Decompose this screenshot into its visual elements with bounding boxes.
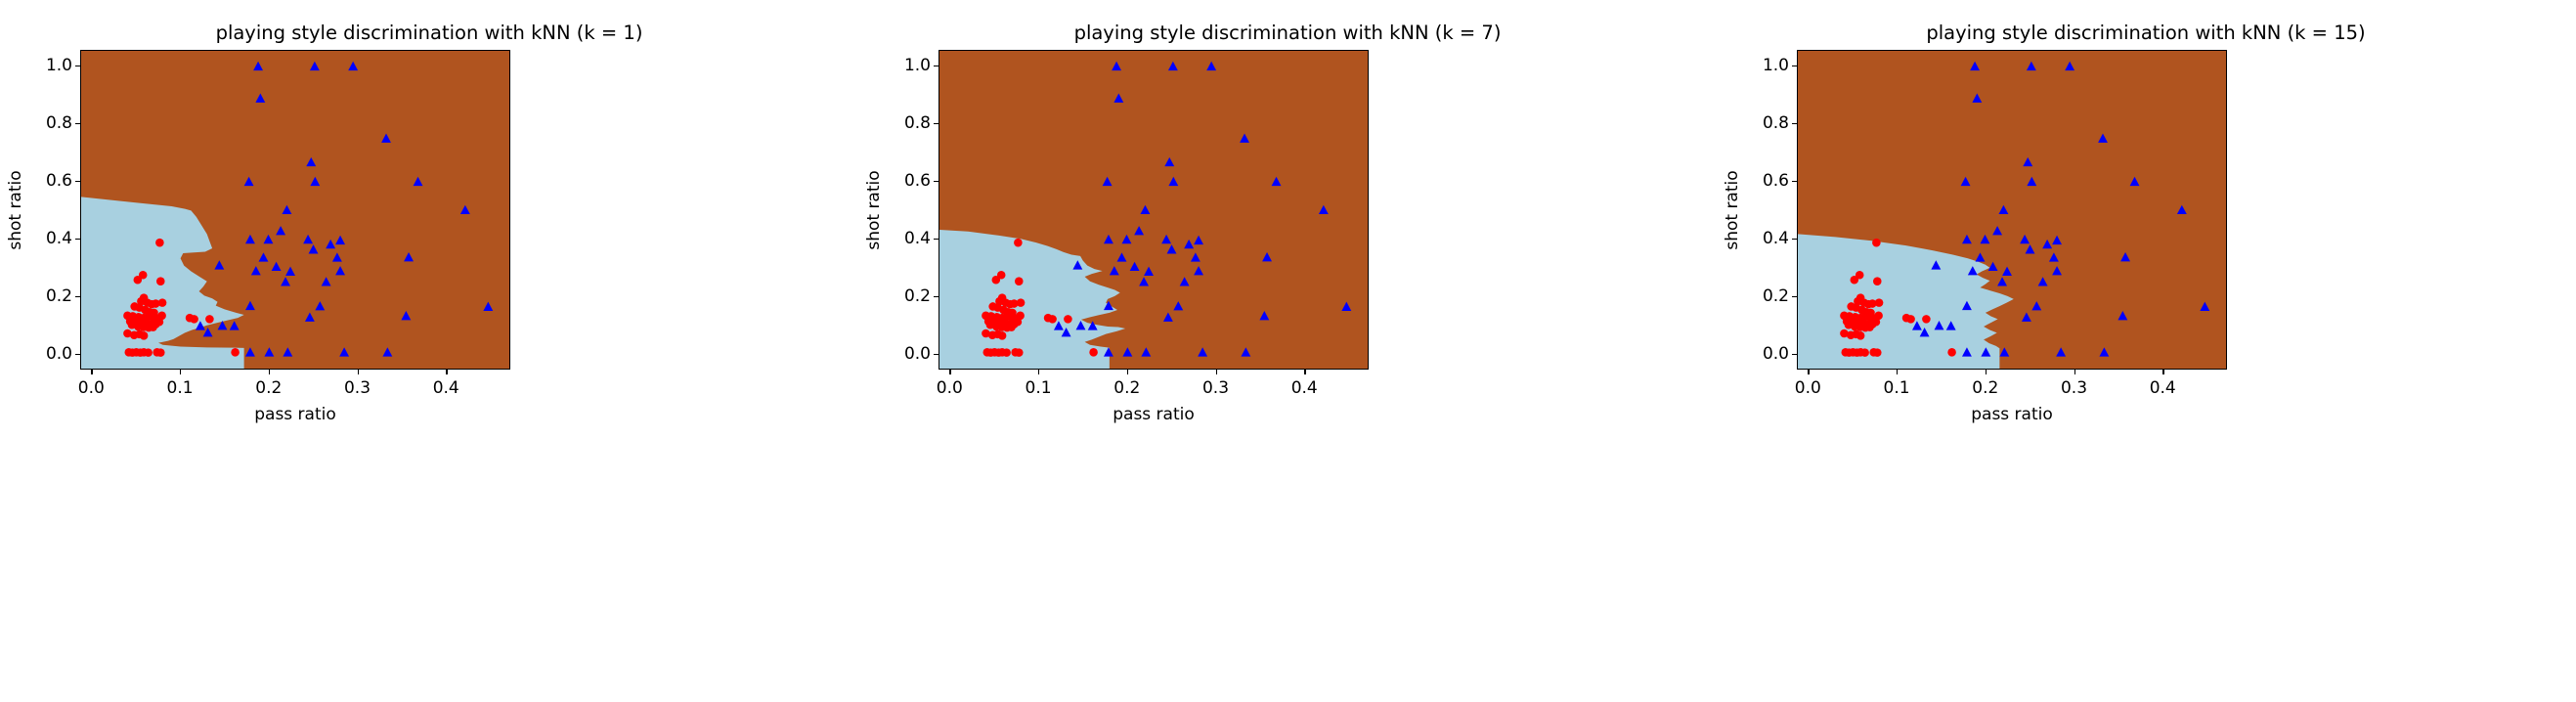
data-point-triangle (401, 311, 411, 320)
x-axis-label: pass ratio (1113, 405, 1195, 424)
data-point-circle (1906, 315, 1915, 324)
data-point-triangle (2022, 313, 2031, 322)
data-point-triangle (1946, 321, 1956, 329)
series-class-0 (123, 239, 240, 357)
data-point-triangle (2027, 177, 2036, 186)
data-point-triangle (255, 94, 265, 103)
data-point-circle (1865, 323, 1874, 331)
x-tick-label: 0.0 (78, 378, 105, 398)
y-tick-label: 0.0 (41, 344, 72, 364)
data-point-circle (1860, 348, 1869, 357)
data-point-triangle (315, 301, 325, 310)
y-axis-label: shot ratio (864, 170, 884, 249)
data-point-triangle (1240, 134, 1249, 143)
data-point-triangle (244, 177, 254, 186)
data-point-circle (1014, 239, 1023, 247)
y-tick-mark (934, 354, 939, 355)
data-point-triangle (306, 157, 316, 166)
y-tick-mark (75, 66, 80, 66)
data-point-triangle (1122, 347, 1132, 356)
data-point-circle (140, 331, 149, 340)
y-tick-mark (934, 296, 939, 297)
x-tick-mark (1038, 370, 1039, 374)
data-point-triangle (214, 260, 224, 269)
x-tick-label: 0.0 (1795, 378, 1821, 398)
data-point-triangle (404, 252, 414, 261)
y-tick-label: 0.4 (899, 229, 931, 248)
data-point-triangle (310, 177, 320, 186)
data-point-circle (1872, 239, 1881, 247)
data-point-triangle (1113, 94, 1123, 103)
data-point-triangle (2120, 252, 2130, 261)
data-point-triangle (1072, 260, 1082, 269)
data-point-triangle (1076, 321, 1086, 329)
data-point-triangle (218, 321, 228, 329)
y-tick-mark (1792, 66, 1797, 66)
data-point-circle (992, 276, 1001, 285)
series-class-0 (1840, 239, 1956, 357)
y-tick-mark (1792, 181, 1797, 182)
x-tick-label: 0.4 (433, 378, 459, 398)
data-point-triangle (2052, 236, 2062, 244)
x-tick-label: 0.3 (344, 378, 371, 398)
data-point-triangle (1206, 62, 1216, 70)
data-point-triangle (264, 235, 274, 243)
x-tick-mark (1808, 370, 1809, 374)
data-point-triangle (2042, 240, 2052, 248)
data-point-triangle (283, 347, 292, 356)
data-point-triangle (282, 205, 291, 214)
x-tick-label: 0.3 (1202, 378, 1229, 398)
data-point-triangle (1962, 301, 1972, 310)
x-tick-mark (2074, 370, 2075, 374)
data-point-circle (134, 276, 143, 285)
y-tick-label: 0.2 (1758, 286, 1789, 306)
data-point-triangle (1130, 262, 1140, 271)
x-tick-label: 0.2 (1972, 378, 1998, 398)
data-point-triangle (382, 347, 392, 356)
y-tick-mark (75, 181, 80, 182)
data-point-triangle (1163, 313, 1173, 322)
y-tick-label: 0.2 (41, 286, 72, 306)
series-class-1 (196, 62, 493, 357)
data-point-circle (1856, 331, 1865, 340)
scatter-layer (81, 51, 509, 369)
data-point-triangle (1168, 62, 1178, 70)
data-point-triangle (310, 62, 320, 70)
data-point-circle (1873, 348, 1882, 357)
data-point-triangle (2200, 302, 2209, 311)
plot-area (1797, 50, 2227, 370)
subplot-panel-1: playing style discrimination with kNN (k… (0, 0, 858, 702)
data-point-triangle (2002, 267, 2012, 276)
scatter-layer (939, 51, 1368, 369)
series-class-0 (982, 239, 1098, 357)
data-point-triangle (1191, 252, 1201, 261)
subplot-panel-2: playing style discrimination with kNN (k… (858, 0, 1717, 702)
data-point-triangle (2130, 177, 2140, 186)
data-point-triangle (1112, 62, 1121, 70)
data-point-circle (1048, 315, 1057, 324)
data-point-circle (144, 348, 153, 357)
data-point-triangle (309, 244, 319, 253)
data-point-triangle (1117, 252, 1127, 261)
y-tick-mark (75, 123, 80, 124)
data-point-circle (156, 277, 165, 285)
x-tick-label: 0.3 (2061, 378, 2087, 398)
data-point-triangle (1319, 205, 1329, 214)
data-point-triangle (460, 205, 470, 214)
plot-area (939, 50, 1369, 370)
y-tick-mark (934, 239, 939, 240)
data-point-triangle (245, 235, 255, 243)
data-point-triangle (1054, 321, 1064, 329)
y-tick-mark (934, 66, 939, 66)
data-point-triangle (1935, 321, 1944, 329)
y-tick-label: 1.0 (899, 56, 931, 75)
data-point-circle (149, 323, 157, 331)
data-point-triangle (339, 347, 349, 356)
data-point-triangle (1961, 177, 1971, 186)
data-point-triangle (322, 277, 331, 285)
x-tick-mark (358, 370, 359, 374)
data-point-triangle (230, 321, 240, 329)
data-point-triangle (2023, 157, 2032, 166)
data-point-triangle (2065, 62, 2074, 70)
data-point-triangle (326, 240, 335, 248)
data-point-circle (1851, 276, 1859, 285)
y-tick-label: 1.0 (1758, 56, 1789, 75)
data-point-circle (1922, 315, 1931, 324)
data-point-triangle (1104, 235, 1113, 243)
data-point-triangle (1139, 277, 1149, 285)
data-point-triangle (1194, 266, 1203, 275)
data-point-circle (1015, 277, 1024, 285)
data-point-triangle (1140, 205, 1150, 214)
x-axis-label: pass ratio (1971, 405, 2053, 424)
data-point-triangle (1981, 235, 1990, 243)
data-point-triangle (1164, 157, 1174, 166)
data-point-triangle (335, 266, 345, 275)
data-point-circle (155, 239, 164, 247)
data-point-triangle (1161, 235, 1171, 243)
data-point-triangle (1970, 62, 1980, 70)
x-tick-mark (1897, 370, 1898, 374)
data-point-triangle (245, 301, 255, 310)
panel-title: playing style discrimination with kNN (k… (1717, 22, 2575, 44)
data-point-triangle (1262, 252, 1272, 261)
x-tick-label: 0.0 (937, 378, 963, 398)
x-tick-mark (269, 370, 270, 374)
data-point-triangle (2177, 205, 2187, 214)
data-point-triangle (2052, 266, 2062, 275)
data-point-triangle (1088, 321, 1098, 329)
x-axis-label: pass ratio (254, 405, 336, 424)
data-point-triangle (1976, 252, 1986, 261)
data-point-triangle (1134, 226, 1144, 235)
data-point-triangle (1194, 236, 1203, 244)
x-tick-mark (1127, 370, 1128, 374)
data-point-triangle (1912, 321, 1922, 329)
data-point-circle (1015, 348, 1024, 357)
x-tick-mark (949, 370, 950, 374)
data-point-circle (1873, 277, 1882, 285)
data-point-triangle (1992, 226, 2002, 235)
data-point-triangle (305, 313, 315, 322)
data-point-circle (156, 348, 165, 357)
data-point-triangle (1173, 301, 1183, 310)
series-class-1 (1054, 62, 1351, 357)
data-point-triangle (196, 321, 205, 329)
panel-title: playing style discrimination with kNN (k… (0, 22, 858, 44)
data-point-triangle (2118, 311, 2127, 320)
data-point-triangle (253, 62, 263, 70)
data-point-triangle (251, 266, 261, 275)
x-tick-mark (1216, 370, 1217, 374)
y-tick-mark (75, 239, 80, 240)
data-point-triangle (259, 252, 269, 261)
data-point-triangle (1167, 244, 1177, 253)
data-point-triangle (1962, 235, 1972, 243)
y-tick-label: 0.4 (41, 229, 72, 248)
data-point-triangle (1144, 267, 1154, 276)
data-point-triangle (1999, 347, 2009, 356)
data-point-triangle (1968, 266, 1978, 275)
x-tick-label: 0.1 (1026, 378, 1052, 398)
data-point-triangle (414, 177, 423, 186)
data-point-triangle (335, 236, 345, 244)
data-point-triangle (1988, 262, 1998, 271)
scatter-layer (1798, 51, 2226, 369)
x-tick-mark (1986, 370, 1987, 374)
y-tick-label: 0.8 (1758, 113, 1789, 133)
y-tick-label: 0.0 (1758, 344, 1789, 364)
data-point-triangle (381, 134, 391, 143)
data-point-triangle (1180, 277, 1190, 285)
series-class-1 (1912, 62, 2209, 357)
data-point-circle (1947, 348, 1956, 357)
y-tick-mark (1792, 296, 1797, 297)
x-tick-label: 0.1 (167, 378, 194, 398)
data-point-triangle (281, 277, 290, 285)
data-point-triangle (285, 267, 295, 276)
data-point-circle (1064, 315, 1072, 324)
data-point-triangle (332, 252, 342, 261)
data-point-triangle (1341, 302, 1351, 311)
x-tick-label: 0.1 (1884, 378, 1910, 398)
data-point-circle (1002, 348, 1011, 357)
data-point-circle (998, 331, 1007, 340)
data-point-triangle (1972, 94, 1982, 103)
y-tick-label: 1.0 (41, 56, 72, 75)
data-point-circle (1017, 298, 1026, 307)
y-tick-mark (1792, 239, 1797, 240)
data-point-triangle (2027, 62, 2036, 70)
data-point-triangle (1259, 311, 1269, 320)
data-point-triangle (1997, 277, 2007, 285)
data-point-triangle (1998, 205, 2008, 214)
x-tick-label: 0.2 (1113, 378, 1140, 398)
plot-area (80, 50, 510, 370)
x-tick-mark (91, 370, 92, 374)
data-point-triangle (2056, 347, 2066, 356)
data-point-circle (190, 315, 198, 324)
data-point-triangle (2098, 134, 2108, 143)
y-tick-label: 0.8 (41, 113, 72, 133)
data-point-triangle (1981, 347, 1990, 356)
data-point-triangle (245, 347, 255, 356)
data-point-triangle (483, 302, 493, 311)
x-tick-mark (446, 370, 447, 374)
matplotlib-figure: playing style discrimination with kNN (k… (0, 0, 2576, 702)
data-point-circle (1089, 348, 1098, 357)
y-tick-mark (75, 354, 80, 355)
y-tick-label: 0.8 (899, 113, 931, 133)
y-tick-mark (75, 296, 80, 297)
data-point-triangle (2020, 235, 2030, 243)
data-point-triangle (272, 262, 282, 271)
y-tick-label: 0.4 (1758, 229, 1789, 248)
data-point-triangle (348, 62, 358, 70)
data-point-triangle (1122, 235, 1132, 243)
data-point-triangle (1962, 347, 1972, 356)
y-axis-label: shot ratio (1723, 170, 1742, 249)
data-point-triangle (264, 347, 274, 356)
data-point-circle (231, 348, 240, 357)
x-tick-mark (180, 370, 181, 374)
data-point-circle (1007, 323, 1016, 331)
data-point-triangle (2031, 301, 2041, 310)
data-point-circle (158, 298, 167, 307)
x-tick-label: 0.4 (1291, 378, 1318, 398)
data-point-triangle (1110, 266, 1119, 275)
data-point-triangle (1241, 347, 1250, 356)
y-axis-label: shot ratio (6, 170, 25, 249)
y-tick-mark (934, 123, 939, 124)
x-tick-label: 0.2 (255, 378, 282, 398)
panel-title: playing style discrimination with kNN (k… (858, 22, 1717, 44)
data-point-triangle (1184, 240, 1194, 248)
data-point-triangle (2038, 277, 2048, 285)
y-tick-mark (934, 181, 939, 182)
y-tick-label: 0.2 (899, 286, 931, 306)
y-tick-label: 0.6 (41, 171, 72, 191)
data-point-triangle (2026, 244, 2035, 253)
data-point-triangle (1168, 177, 1178, 186)
y-tick-label: 0.0 (899, 344, 931, 364)
subplot-panel-3: playing style discrimination with kNN (k… (1717, 0, 2575, 702)
y-tick-mark (1792, 123, 1797, 124)
data-point-triangle (1272, 177, 1282, 186)
x-tick-label: 0.4 (2150, 378, 2176, 398)
data-point-triangle (1104, 347, 1113, 356)
data-point-circle (1875, 298, 1884, 307)
y-tick-label: 0.6 (1758, 171, 1789, 191)
data-point-triangle (1198, 347, 1207, 356)
data-point-triangle (1103, 177, 1113, 186)
data-point-triangle (2099, 347, 2109, 356)
data-point-triangle (303, 235, 313, 243)
data-point-triangle (276, 226, 285, 235)
x-tick-mark (1304, 370, 1305, 374)
y-tick-mark (1792, 354, 1797, 355)
data-point-triangle (1104, 301, 1113, 310)
data-point-triangle (2049, 252, 2059, 261)
x-tick-mark (2162, 370, 2163, 374)
y-tick-label: 0.6 (899, 171, 931, 191)
data-point-circle (205, 315, 214, 324)
data-point-triangle (1141, 347, 1151, 356)
data-point-triangle (1931, 260, 1941, 269)
